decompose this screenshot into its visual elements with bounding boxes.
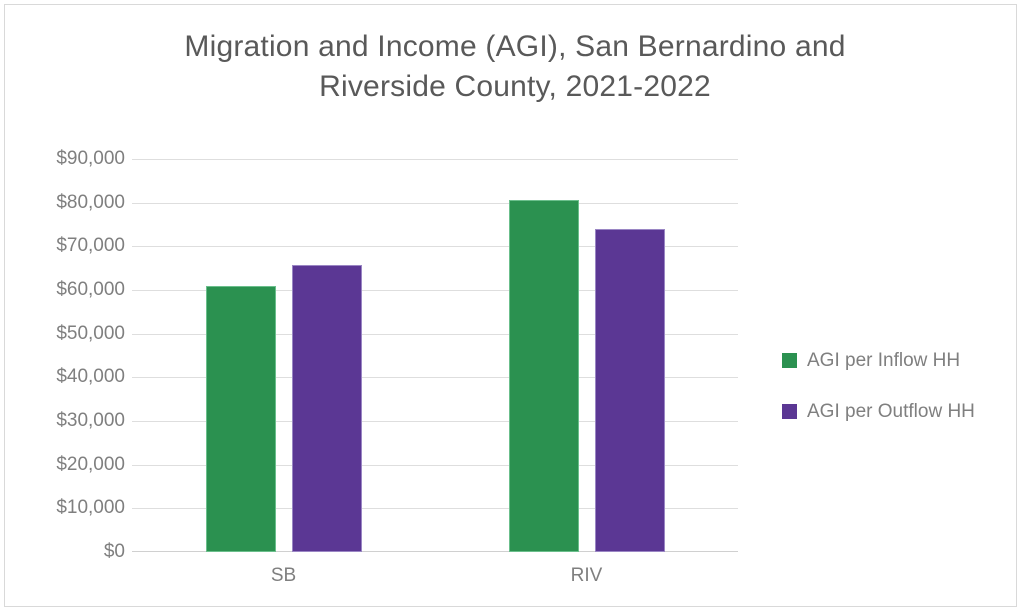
gridline	[132, 159, 738, 160]
plot-area	[132, 159, 738, 552]
x-tick-label: SB	[271, 565, 296, 587]
chart-title-line-1: Migration and Income (AGI), San Bernardi…	[65, 27, 965, 67]
legend-label: AGI per Outflow HH	[807, 401, 975, 423]
legend-item[interactable]: AGI per Inflow HH	[782, 335, 1012, 386]
y-tick-label: $30,000	[56, 410, 125, 432]
chart-title-line-2: Riverside County, 2021-2022	[65, 67, 965, 107]
y-tick-label: $20,000	[56, 454, 125, 476]
chart-title: Migration and Income (AGI), San Bernardi…	[65, 27, 965, 106]
bar-sb-outflow	[292, 265, 362, 552]
y-tick-label: $80,000	[56, 192, 125, 214]
y-tick-label: $50,000	[56, 323, 125, 345]
y-tick-label: $70,000	[56, 235, 125, 257]
legend-label: AGI per Inflow HH	[807, 350, 960, 372]
gridline	[132, 203, 738, 204]
chart-legend: AGI per Inflow HHAGI per Outflow HH	[782, 335, 1012, 437]
x-tick-label: RIV	[571, 565, 603, 587]
bar-riv-outflow	[595, 229, 665, 552]
legend-swatch-icon	[782, 404, 797, 419]
chart-container: Migration and Income (AGI), San Bernardi…	[4, 4, 1017, 607]
legend-swatch-icon	[782, 353, 797, 368]
bar-riv-inflow	[509, 200, 579, 552]
y-tick-label: $10,000	[56, 497, 125, 519]
bar-sb-inflow	[206, 286, 276, 552]
y-tick-label: $90,000	[56, 148, 125, 170]
y-tick-label: $40,000	[56, 366, 125, 388]
y-axis: $90,000$80,000$70,000$60,000$50,000$40,0…	[13, 159, 125, 552]
x-axis: SBRIV	[132, 565, 738, 595]
y-tick-label: $0	[104, 541, 125, 563]
y-tick-label: $60,000	[56, 279, 125, 301]
legend-item[interactable]: AGI per Outflow HH	[782, 386, 1012, 437]
